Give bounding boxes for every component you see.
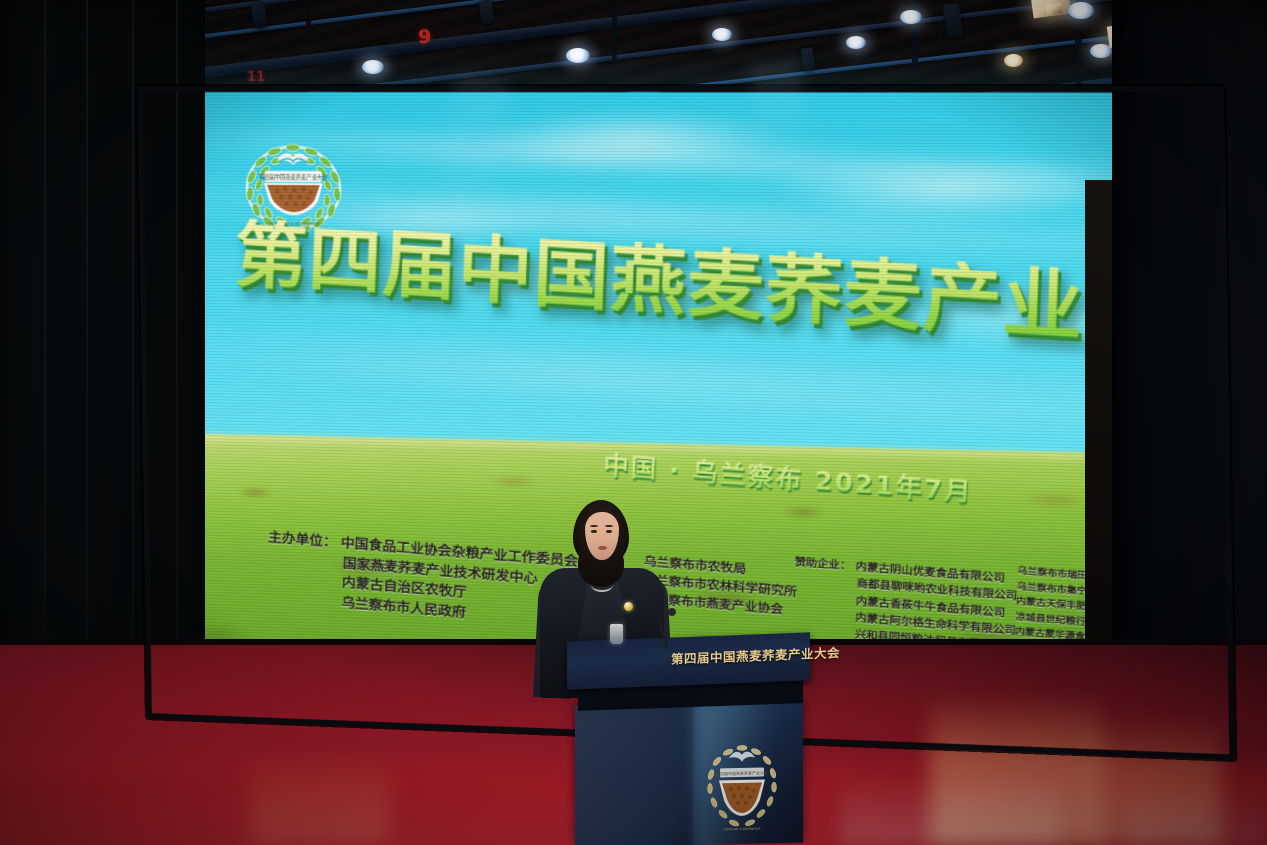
svg-text:第四届中国燕麦荞麦产业大会: 第四届中国燕麦荞麦产业大会	[716, 769, 768, 776]
mouth	[598, 546, 607, 550]
svg-text:CHINA OAT & BUCKWHEAT: CHINA OAT & BUCKWHEAT	[724, 826, 761, 831]
floor-specular	[840, 775, 1060, 845]
water-glass[interactable]	[610, 624, 623, 644]
podium-body: 第四届中国燕麦荞麦产业大会 CHINA OAT & BUCKWHEAT	[575, 701, 803, 845]
stage-scene: 9 11	[0, 0, 1267, 845]
truss-marker-11: 11	[247, 70, 265, 85]
truss-support	[612, 10, 617, 62]
eyebrow	[590, 525, 598, 527]
ceiling-lamp[interactable]	[566, 48, 590, 63]
truss-marker-9: 9	[418, 26, 431, 48]
ceiling-lamp[interactable]	[712, 28, 732, 41]
microphone-icon[interactable]	[668, 608, 676, 616]
eye	[591, 530, 597, 533]
ceiling-lamp-warm[interactable]	[1004, 54, 1023, 67]
ceiling-lamp[interactable]	[846, 36, 866, 49]
podium-emblem: 第四届中国燕麦荞麦产业大会 CHINA OAT & BUCKWHEAT	[703, 741, 781, 835]
ceiling-lamp[interactable]	[900, 10, 922, 24]
podium-top: 第四届中国燕麦荞麦产业大会	[567, 632, 810, 689]
floor-reflection	[250, 755, 390, 845]
truss-support	[306, 0, 311, 40]
ceiling-lamp[interactable]	[1090, 44, 1112, 58]
ceiling-lamp[interactable]	[1068, 2, 1094, 19]
lapel-pin-icon	[624, 602, 633, 611]
podium-edge-highlight	[575, 703, 693, 845]
ceiling-lamp[interactable]	[362, 60, 384, 74]
eyebrow	[605, 525, 613, 527]
floor-specular	[1130, 785, 1267, 845]
eye	[606, 530, 612, 533]
